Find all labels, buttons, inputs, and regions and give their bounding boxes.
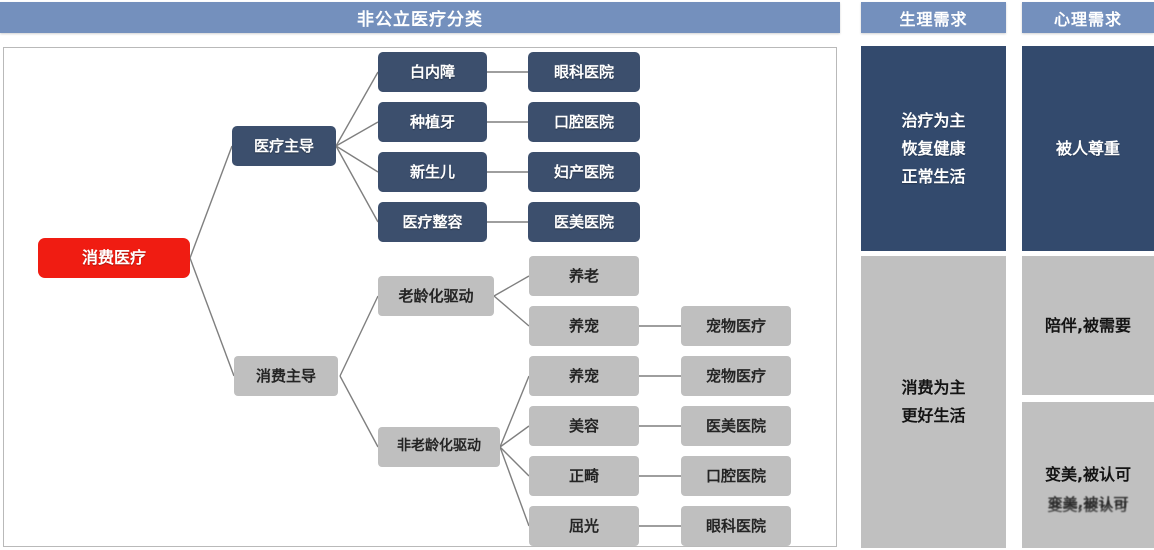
leaf-node-newborn[interactable]: 新生儿 <box>378 152 487 192</box>
physiological-need-consumption-line-1: 消费为主 <box>901 374 965 402</box>
overlapping-text-artifact: 变美,被认可 变美,被认可 <box>1032 492 1144 516</box>
branch-node-consumption-led[interactable]: 消费主导 <box>234 356 338 396</box>
leaf-node-refraction[interactable]: 屈光 <box>529 506 639 546</box>
target-node-eye-hospital-cataract-label: 眼科医院 <box>554 64 614 81</box>
target-node-pet-medical-non-aging-label: 宠物医疗 <box>706 368 766 385</box>
psychological-need-beauty-box: 变美,被认可 <box>1022 402 1154 548</box>
leaf-node-pet-care-non-aging[interactable]: 养宠 <box>529 356 639 396</box>
main-title-bar: 非公立医疗分类 <box>0 2 840 33</box>
physiological-need-treatment-line-1: 治疗为主 <box>901 107 965 135</box>
psychological-need-header-text: 心理需求 <box>1054 6 1122 30</box>
target-node-aesthetic-hospital-cosmetic[interactable]: 医美医院 <box>528 202 640 242</box>
subgroup-node-aging-driven[interactable]: 老龄化驱动 <box>378 276 494 316</box>
psychological-need-beauty-line-1: 变美,被认可 <box>1045 461 1131 489</box>
target-node-dental-hospital-ortho-label: 口腔医院 <box>706 468 766 485</box>
psychological-need-companionship-line-1: 陪伴,被需要 <box>1045 312 1131 340</box>
physiological-need-consumption-line-2: 更好生活 <box>901 402 965 430</box>
leaf-node-medical-cosmetic[interactable]: 医疗整容 <box>378 202 487 242</box>
root-node-label: 消费医疗 <box>82 249 146 267</box>
overlapping-text-artifact-layer-2: 变美,被认可 <box>1032 498 1144 514</box>
target-node-pet-medical-aging[interactable]: 宠物医疗 <box>681 306 791 346</box>
leaf-node-pet-care-aging-label: 养宠 <box>569 318 599 335</box>
physiological-need-treatment-box: 治疗为主 恢复健康 正常生活 <box>861 46 1006 251</box>
leaf-node-pet-care-non-aging-label: 养宠 <box>569 368 599 385</box>
physiological-need-consumption-box: 消费为主 更好生活 <box>861 256 1006 548</box>
target-node-dental-hospital-implant[interactable]: 口腔医院 <box>528 102 640 142</box>
physiological-need-treatment-line-3: 正常生活 <box>901 163 965 191</box>
leaf-node-elderly-care[interactable]: 养老 <box>529 256 639 296</box>
leaf-node-elderly-care-label: 养老 <box>569 268 599 285</box>
physiological-need-header: 生理需求 <box>861 2 1006 33</box>
target-node-aesthetic-hospital-beauty[interactable]: 医美医院 <box>681 406 791 446</box>
target-node-pet-medical-non-aging[interactable]: 宠物医疗 <box>681 356 791 396</box>
psychological-need-header: 心理需求 <box>1022 2 1154 33</box>
subgroup-node-non-aging-driven-label: 非老龄化驱动 <box>397 439 481 454</box>
leaf-node-beauty[interactable]: 美容 <box>529 406 639 446</box>
leaf-node-orthodontics[interactable]: 正畸 <box>529 456 639 496</box>
target-node-pet-medical-aging-label: 宠物医疗 <box>706 318 766 335</box>
leaf-node-dental-implant-label: 种植牙 <box>410 114 455 131</box>
psychological-need-respect-box: 被人尊重 <box>1022 46 1154 251</box>
psychological-need-companionship-box: 陪伴,被需要 <box>1022 256 1154 395</box>
leaf-node-cataract[interactable]: 白内障 <box>378 52 487 92</box>
leaf-node-cataract-label: 白内障 <box>410 64 455 81</box>
root-node-consumer-healthcare[interactable]: 消费医疗 <box>38 238 190 278</box>
subgroup-node-non-aging-driven[interactable]: 非老龄化驱动 <box>378 427 500 467</box>
target-node-aesthetic-hospital-cosmetic-label: 医美医院 <box>554 214 614 231</box>
leaf-node-newborn-label: 新生儿 <box>410 164 455 181</box>
leaf-node-refraction-label: 屈光 <box>569 518 599 535</box>
leaf-node-medical-cosmetic-label: 医疗整容 <box>402 214 462 231</box>
target-node-eye-hospital-refraction[interactable]: 眼科医院 <box>681 506 791 546</box>
physiological-need-treatment-line-2: 恢复健康 <box>901 135 965 163</box>
branch-node-consumption-led-label: 消费主导 <box>256 368 316 385</box>
target-node-dental-hospital-implant-label: 口腔医院 <box>554 114 614 131</box>
main-title-text: 非公立医疗分类 <box>357 5 483 30</box>
target-node-maternity-hospital[interactable]: 妇产医院 <box>528 152 640 192</box>
target-node-maternity-hospital-label: 妇产医院 <box>554 164 614 181</box>
target-node-eye-hospital-cataract[interactable]: 眼科医院 <box>528 52 640 92</box>
leaf-node-beauty-label: 美容 <box>569 418 599 435</box>
leaf-node-dental-implant[interactable]: 种植牙 <box>378 102 487 142</box>
branch-node-medical-led-label: 医疗主导 <box>254 138 314 155</box>
target-node-dental-hospital-ortho[interactable]: 口腔医院 <box>681 456 791 496</box>
subgroup-node-aging-driven-label: 老龄化驱动 <box>398 288 473 305</box>
leaf-node-orthodontics-label: 正畸 <box>569 468 599 485</box>
target-node-aesthetic-hospital-beauty-label: 医美医院 <box>706 418 766 435</box>
psychological-need-respect-line-1: 被人尊重 <box>1056 135 1120 163</box>
branch-node-medical-led[interactable]: 医疗主导 <box>232 126 336 166</box>
physiological-need-header-text: 生理需求 <box>899 6 967 30</box>
target-node-eye-hospital-refraction-label: 眼科医院 <box>706 518 766 535</box>
leaf-node-pet-care-aging[interactable]: 养宠 <box>529 306 639 346</box>
